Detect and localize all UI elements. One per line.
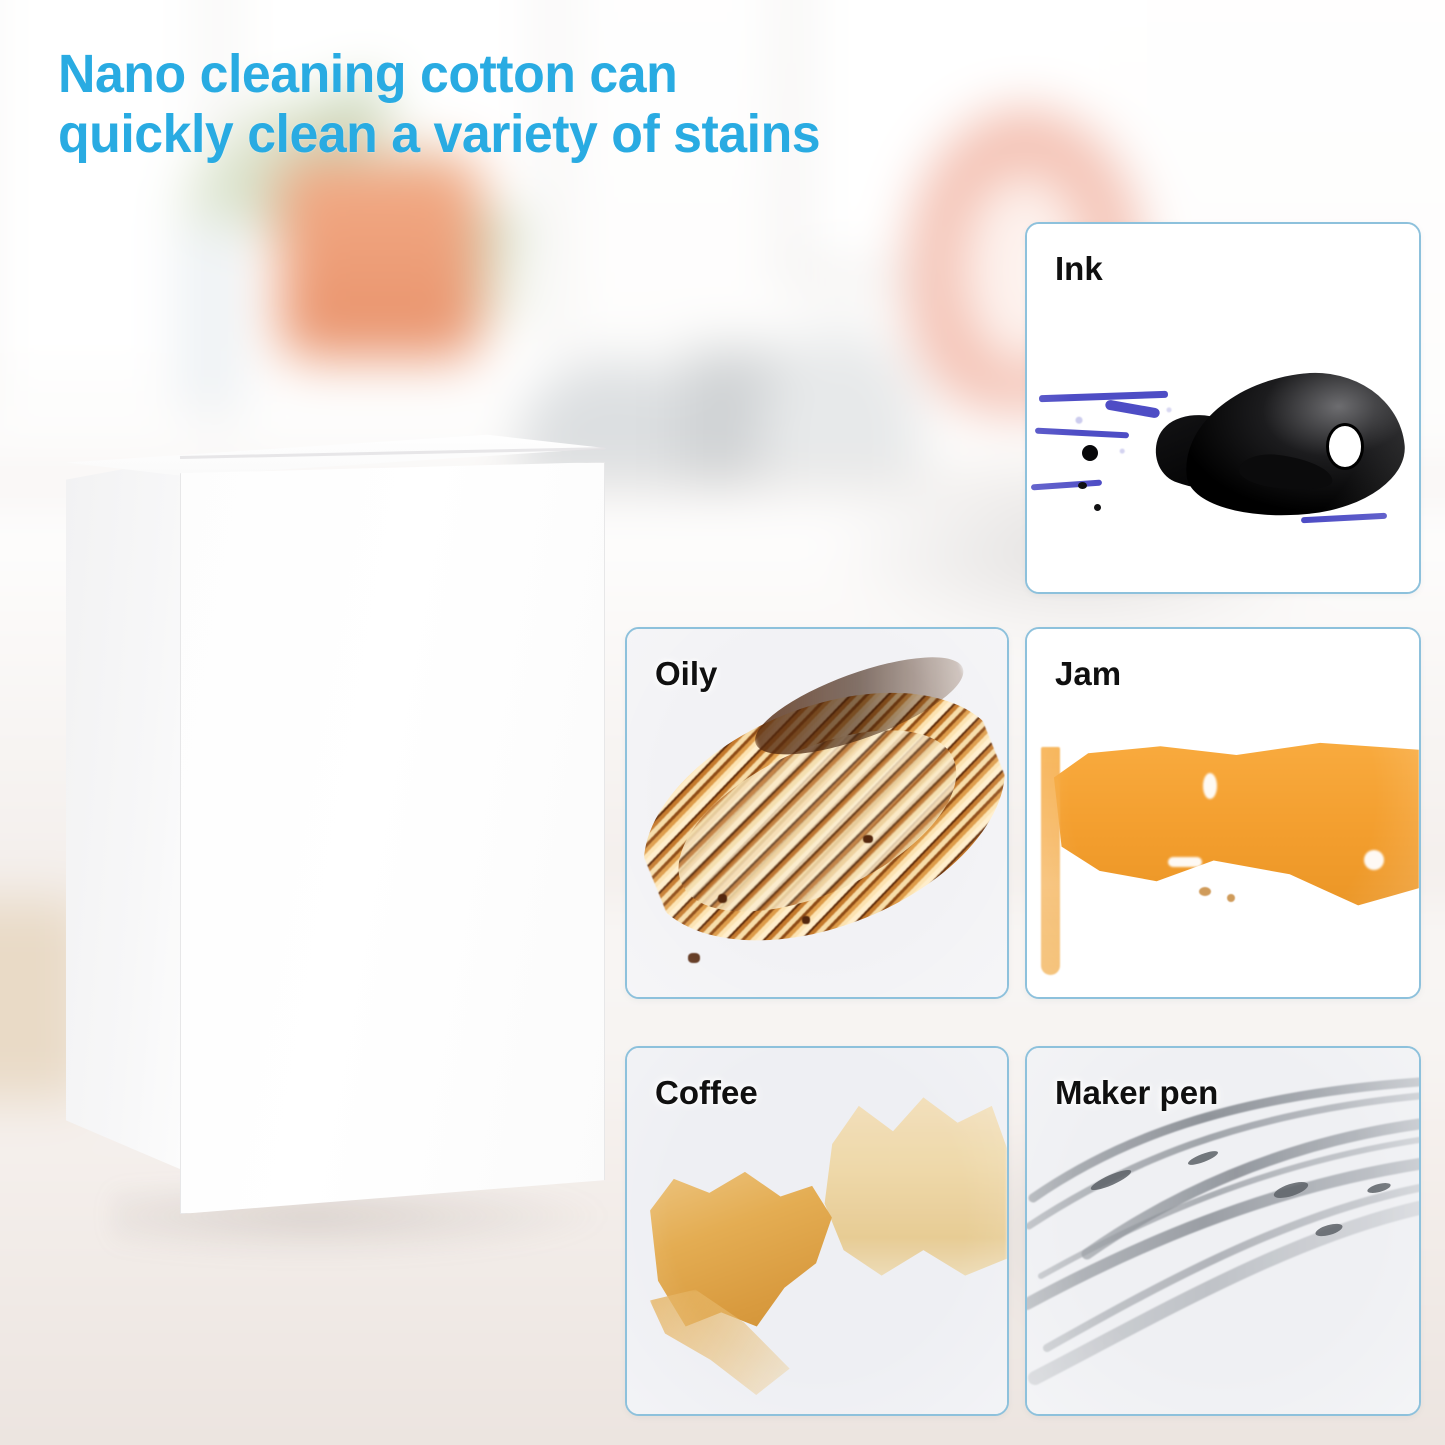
stain-card-coffee: Coffee bbox=[625, 1046, 1009, 1416]
ink-dot-small-2 bbox=[1094, 504, 1101, 511]
stain-card-ink: Ink bbox=[1025, 222, 1421, 594]
glass-bottle bbox=[178, 220, 242, 410]
product-sponge-block bbox=[52, 428, 612, 1228]
oily-speck-4 bbox=[802, 916, 810, 924]
stain-card-label-jam: Jam bbox=[1055, 655, 1121, 693]
jam-seed-2 bbox=[1227, 894, 1235, 902]
stain-card-oily: Oily bbox=[625, 627, 1009, 999]
terracotta-pot bbox=[280, 158, 480, 358]
jam-seed-1 bbox=[1199, 887, 1211, 896]
sponge-front-face bbox=[180, 462, 605, 1214]
ink-dot-large bbox=[1082, 445, 1098, 461]
oily-speck-3 bbox=[688, 953, 700, 963]
stain-card-label-oily: Oily bbox=[655, 655, 717, 693]
stain-card-label-ink: Ink bbox=[1055, 250, 1103, 288]
jam-drip-left bbox=[1041, 747, 1061, 975]
ink-blob-highlight-hole bbox=[1329, 426, 1361, 466]
stain-card-makerpen: Maker pen bbox=[1025, 1046, 1421, 1416]
stain-card-label-makerpen: Maker pen bbox=[1055, 1074, 1218, 1112]
oily-speck-1 bbox=[863, 835, 873, 843]
stain-card-jam: Jam bbox=[1025, 627, 1421, 999]
ink-dot-small-1 bbox=[1078, 482, 1087, 489]
sponge-side-face bbox=[66, 458, 184, 1178]
jam-highlight-3 bbox=[1168, 857, 1202, 867]
page-title: Nano cleaning cotton can quickly clean a… bbox=[58, 44, 1076, 165]
jam-highlight-2 bbox=[1364, 850, 1384, 870]
product-banner: Nano cleaning cotton can quickly clean a… bbox=[0, 0, 1445, 1445]
stain-card-label-coffee: Coffee bbox=[655, 1074, 758, 1112]
oily-speck-2 bbox=[718, 894, 727, 903]
